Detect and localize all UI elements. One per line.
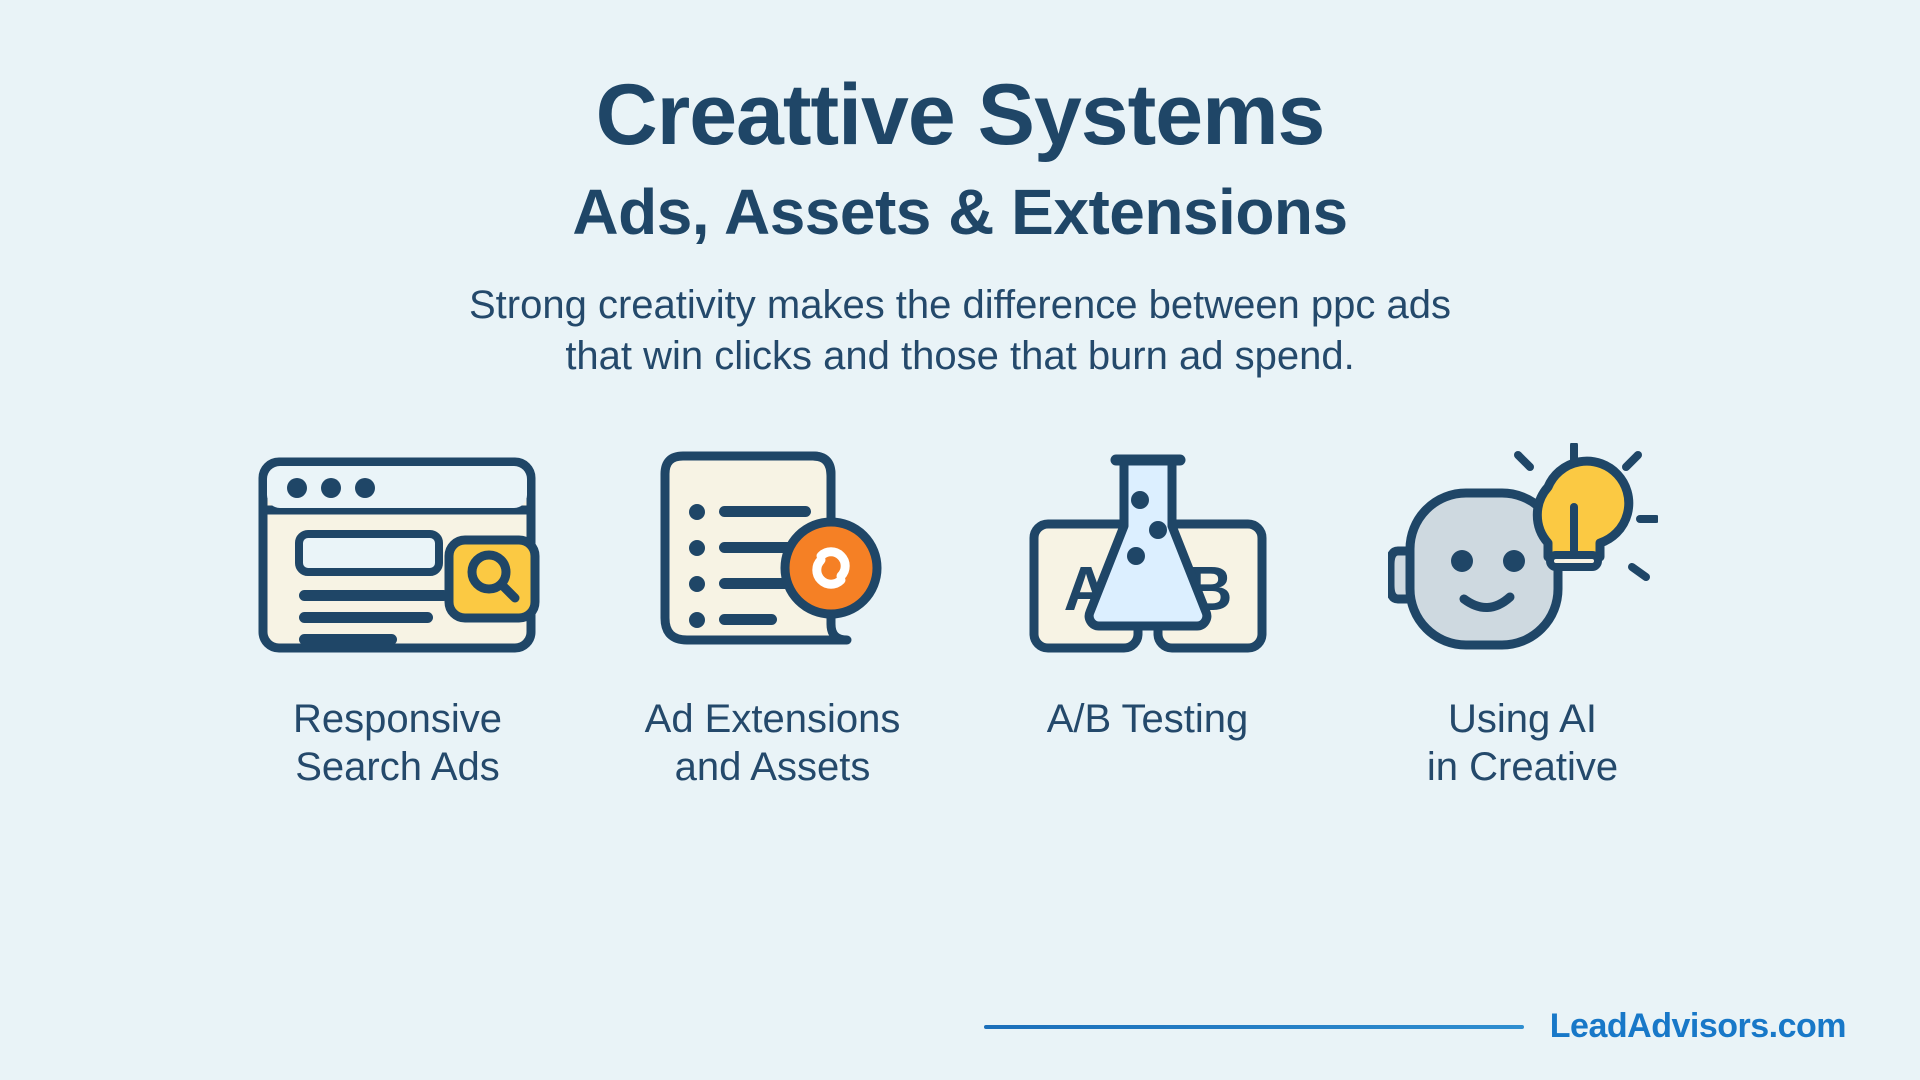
robot-eye-left <box>1451 550 1473 572</box>
description-line-1: Strong creativity makes the difference b… <box>469 280 1451 331</box>
robot-lightbulb-icon <box>1388 443 1658 668</box>
link-badge <box>785 522 877 614</box>
browser-dot-3 <box>355 478 375 498</box>
bulb-ray-tr <box>1626 455 1638 467</box>
icon-wrap <box>1388 440 1658 670</box>
card-label: A/B Testing <box>1047 696 1249 743</box>
card-responsive-search-ads[interactable]: Responsive Search Ads <box>210 440 585 790</box>
browser-search-ad-icon <box>253 448 543 663</box>
card-label: Responsive Search Ads <box>293 696 502 790</box>
card-ab-testing[interactable]: A B A/B Testing <box>960 440 1335 743</box>
headline-field <box>299 534 439 572</box>
bulb-ray-tl <box>1518 455 1530 467</box>
page-subtitle: Ads, Assets & Extensions <box>572 180 1347 244</box>
card-using-ai-in-creative[interactable]: Using AI in Creative <box>1335 440 1710 790</box>
ab-test-flask-icon: A B <box>1028 448 1268 663</box>
footer: LeadAdvisors.com <box>0 1007 1920 1046</box>
page-description: Strong creativity makes the difference b… <box>469 280 1451 382</box>
icon-wrap: A B <box>1028 440 1268 670</box>
brand-name[interactable]: LeadAdvisors.com <box>1550 1007 1846 1046</box>
robot-eye-right <box>1503 550 1525 572</box>
icon-wrap <box>253 440 543 670</box>
lightbulb-base <box>1550 555 1598 567</box>
card-label: Using AI in Creative <box>1427 696 1618 790</box>
infographic-canvas: Creattive Systems Ads, Assets & Extensio… <box>0 0 1920 1080</box>
icon-wrap <box>643 440 903 670</box>
description-line-2: that win clicks and those that burn ad s… <box>469 331 1451 382</box>
lightbulb-glass <box>1537 461 1628 557</box>
document-scroll-link-icon <box>643 444 903 666</box>
page-title: Creattive Systems <box>596 72 1325 158</box>
browser-dot-2 <box>321 478 341 498</box>
card-label: Ad Extensions and Assets <box>645 696 901 790</box>
bulb-ray-br <box>1632 567 1646 577</box>
card-row: Responsive Search Ads <box>210 440 1710 790</box>
card-ad-extensions-assets[interactable]: Ad Extensions and Assets <box>585 440 960 790</box>
browser-dot-1 <box>287 478 307 498</box>
footer-rule <box>984 1025 1524 1029</box>
